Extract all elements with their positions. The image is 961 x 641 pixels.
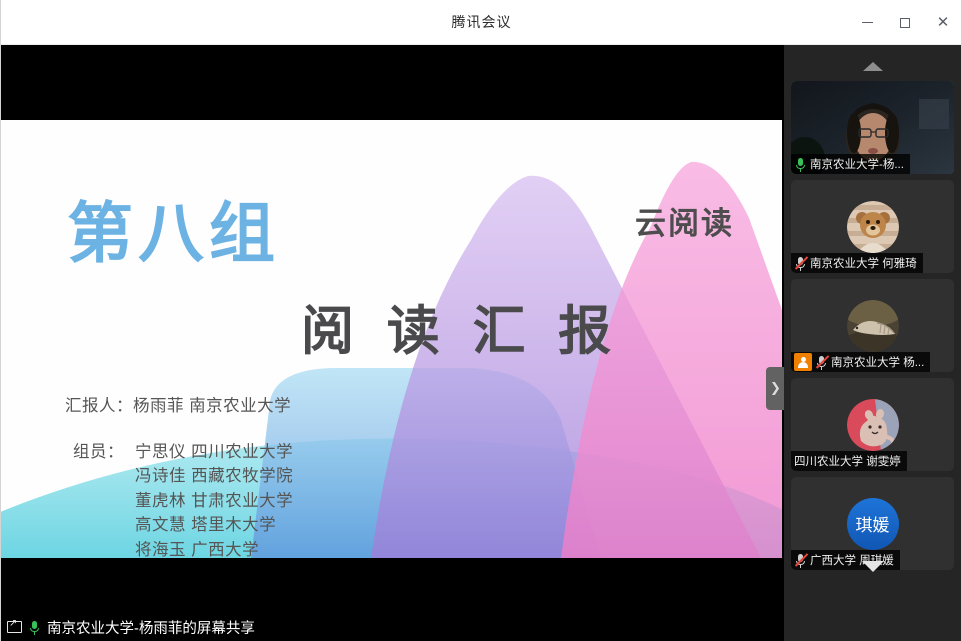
participant-name: 四川农业大学 谢雯婷	[794, 453, 901, 469]
host-badge-icon	[794, 353, 812, 371]
avatar-image	[847, 201, 899, 253]
slide-brand: 云阅读	[635, 198, 734, 243]
slide-presenter: 汇报人：杨雨菲 南京农业大学	[65, 392, 291, 416]
slide-members: 组员： 宁思仪 四川农业大学 冯诗佳 西藏农牧学院 董虎林 甘肃农业大学 高文慧…	[73, 440, 293, 558]
member-line: 高文慧 塔里木大学	[135, 513, 293, 537]
participant-label: 南京农业大学-杨...	[791, 154, 910, 174]
member-line: 董虎林 甘肃农业大学	[135, 489, 293, 513]
participant-name: 南京农业大学-杨...	[810, 156, 904, 172]
shared-screen-stage: 云阅读 第八组 阅 读 汇 报 汇报人：杨雨菲 南京农业大学 组员： 宁思仪 四…	[1, 45, 785, 641]
participant-tiles: 南京农业大学-杨...	[791, 81, 954, 576]
maximize-icon	[900, 18, 910, 28]
minimize-icon	[862, 22, 873, 23]
triangle-down-icon	[862, 561, 884, 572]
petal-blue	[251, 368, 601, 558]
participant-label: 四川农业大学 谢雯婷	[791, 451, 907, 471]
members-label: 组员：	[73, 440, 135, 558]
mic-on-icon	[28, 620, 41, 635]
chevron-right-icon: ❯	[770, 381, 781, 396]
member-line: 冯诗佳 西藏农牧学院	[135, 464, 293, 488]
scroll-down-button[interactable]	[784, 555, 961, 577]
mic-off-icon	[815, 355, 828, 370]
screen-share-icon	[7, 621, 22, 633]
screen-share-label: 南京农业大学-杨雨菲的屏幕共享	[47, 617, 255, 638]
slide-main-title: 阅 读 汇 报	[301, 305, 620, 358]
close-icon: ✕	[937, 15, 950, 30]
window-title: 腾讯会议	[452, 12, 512, 32]
mic-on-icon	[794, 157, 807, 172]
participant-tile[interactable]: 南京农业大学-杨...	[791, 81, 954, 174]
mic-off-icon	[794, 256, 807, 271]
participant-name: 南京农业大学 何雅琦	[810, 255, 917, 271]
window-controls: ✕	[848, 0, 961, 45]
slide-group-title: 第八组	[67, 200, 280, 266]
minimize-button[interactable]	[848, 0, 886, 45]
collapse-panel-handle[interactable]: ❯	[766, 367, 785, 410]
participant-tile[interactable]: 四川农业大学 谢雯婷	[791, 378, 954, 471]
participant-label: 南京农业大学 杨...	[791, 352, 930, 372]
scroll-up-button[interactable]	[784, 55, 961, 77]
close-button[interactable]: ✕	[924, 0, 961, 45]
participant-name: 南京农业大学 杨...	[831, 354, 924, 370]
maximize-button[interactable]	[886, 0, 924, 45]
participant-tile[interactable]: 南京农业大学 杨...	[791, 279, 954, 372]
participant-tile[interactable]: 南京农业大学 何雅琦	[791, 180, 954, 273]
avatar-image	[847, 399, 899, 451]
avatar-image	[847, 300, 899, 352]
avatar-initials: 琪媛	[847, 498, 899, 550]
tencent-meeting-window: 腾讯会议 ✕	[0, 0, 961, 641]
member-line: 将海玉 广西大学	[135, 538, 293, 558]
triangle-up-icon	[863, 62, 883, 71]
member-line: 宁思仪 四川农业大学	[135, 440, 293, 464]
members-list: 宁思仪 四川农业大学 冯诗佳 西藏农牧学院 董虎林 甘肃农业大学 高文慧 塔里木…	[135, 440, 293, 558]
screen-share-status-bar: 南京农业大学-杨雨菲的屏幕共享	[1, 613, 785, 641]
title-bar: 腾讯会议 ✕	[1, 0, 961, 45]
participant-sidebar: 南京农业大学-杨...	[784, 45, 961, 641]
participant-label: 南京农业大学 何雅琦	[791, 253, 923, 273]
presentation-slide: 云阅读 第八组 阅 读 汇 报 汇报人：杨雨菲 南京农业大学 组员： 宁思仪 四…	[1, 120, 782, 558]
